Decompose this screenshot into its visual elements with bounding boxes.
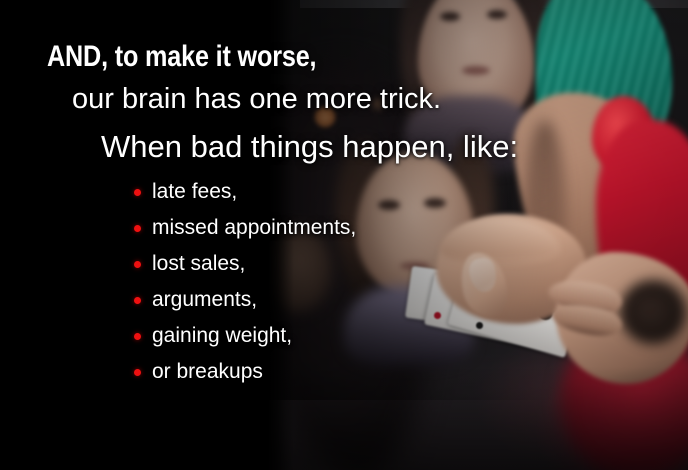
list-item: gaining weight, bbox=[134, 324, 292, 348]
list-item: lost sales, bbox=[134, 252, 245, 276]
list-item: or breakups bbox=[134, 360, 263, 384]
list-item-label: arguments, bbox=[152, 288, 257, 312]
bullet-dot-icon bbox=[134, 369, 141, 376]
bullet-dot-icon bbox=[134, 261, 141, 268]
bullet-dot-icon bbox=[134, 189, 141, 196]
bullet-dot-icon bbox=[134, 297, 141, 304]
list-item: late fees, bbox=[134, 180, 237, 204]
headline-line-2: our brain has one more trick. bbox=[72, 83, 441, 116]
list-item: arguments, bbox=[134, 288, 257, 312]
text-layer: AND, to make it worse, our brain has one… bbox=[0, 0, 688, 470]
headline-line-3: When bad things happen, like: bbox=[101, 129, 518, 165]
bullet-dot-icon bbox=[134, 333, 141, 340]
list-item-label: missed appointments, bbox=[152, 216, 356, 240]
list-item: missed appointments, bbox=[134, 216, 356, 240]
list-item-label: or breakups bbox=[152, 360, 263, 384]
slide-canvas: AND, to make it worse, our brain has one… bbox=[0, 0, 688, 470]
list-item-label: late fees, bbox=[152, 180, 237, 204]
headline-line-1: AND, to make it worse, bbox=[47, 40, 316, 74]
bullet-dot-icon bbox=[134, 225, 141, 232]
list-item-label: lost sales, bbox=[152, 252, 245, 276]
list-item-label: gaining weight, bbox=[152, 324, 292, 348]
